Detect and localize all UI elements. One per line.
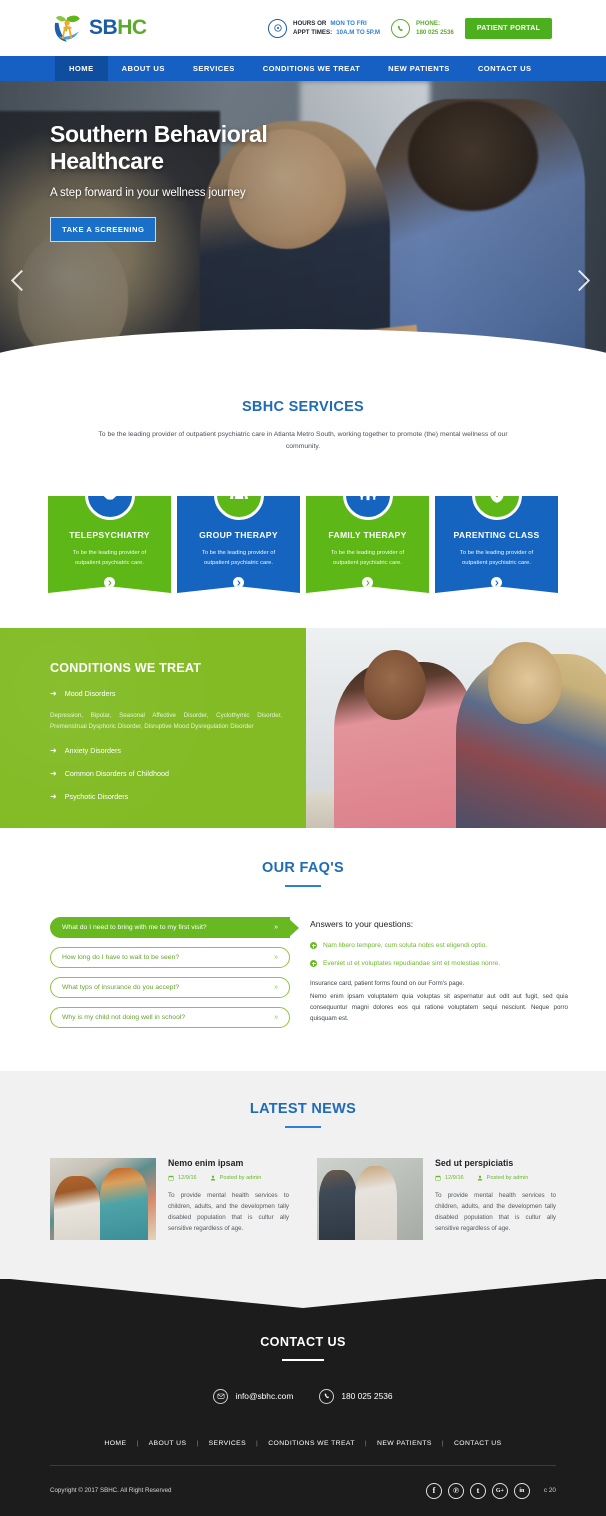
hours-value-line1: MON TO FRI <box>330 19 366 28</box>
hero-title: Southern Behavioral Healthcare <box>50 121 267 175</box>
service-card-family-therapy[interactable]: FAMILY THERAPY To be the leading provide… <box>306 496 429 593</box>
news-item[interactable]: Sed ut perspiciatis 12/9/16 Posted by ad… <box>317 1158 556 1240</box>
faq-answer-bullet: Nam libero tempore, cum soluta nobis est… <box>310 940 568 951</box>
copyright-text: Copyright © 2017 SBHC. All Right Reserve… <box>50 1487 172 1494</box>
calendar-icon <box>435 1175 441 1181</box>
news-title: LATEST NEWS <box>0 1101 606 1117</box>
news-item[interactable]: Nemo enim ipsam 12/9/16 Posted by admin … <box>50 1158 289 1240</box>
header-info-group: HOURS OR MON TO FRI APPT TIMES: 10A.M TO… <box>268 0 552 56</box>
news-author-text: Posted by admin <box>487 1175 529 1181</box>
footer-email[interactable]: info@sbhc.com <box>213 1389 293 1404</box>
condition-label: Common Disorders of Childhood <box>65 769 169 778</box>
footer-nav-separator: | <box>256 1440 258 1447</box>
footer-nav-conditions-we-treat[interactable]: CONDITIONS WE TREAT <box>268 1440 355 1447</box>
service-card-desc: To be the leading provider of outpatient… <box>58 549 161 568</box>
take-a-screening-button[interactable]: TAKE A SCREENING <box>50 217 156 242</box>
condition-item-common-disorders-of-childhood[interactable]: ➜ Common Disorders of Childhood <box>50 769 282 778</box>
conditions-photo <box>306 628 606 828</box>
nav-item-services[interactable]: SERVICES <box>179 56 249 81</box>
chevron-right-icon: » <box>274 984 278 991</box>
faq-bullet-text: Nam libero tempore, cum soluta nobis est… <box>323 940 487 951</box>
service-card-title: FAMILY THERAPY <box>316 530 419 540</box>
news-date-text: 12/9/16 <box>178 1175 197 1181</box>
services-section: SBHC SERVICES To be the leading provider… <box>0 371 606 593</box>
news-title-underline <box>285 1126 321 1128</box>
footer-nav-separator: | <box>365 1440 367 1447</box>
footer-title: CONTACT US <box>0 1335 606 1349</box>
news-author: Posted by admin <box>477 1175 529 1181</box>
hero-title-line1: Southern Behavioral <box>50 121 267 148</box>
nav-item-about-us[interactable]: ABOUT US <box>108 56 179 81</box>
footer-nav-new-patients[interactable]: NEW PATIENTS <box>377 1440 432 1447</box>
main-navigation: HOME ABOUT US SERVICES CONDITIONS WE TRE… <box>0 56 606 81</box>
footer-nav-contact-us[interactable]: CONTACT US <box>454 1440 502 1447</box>
faq-question-label: What do I need to bring with me to my fi… <box>62 924 207 931</box>
arrow-right-icon: ➜ <box>50 793 57 801</box>
site-header: SBHC HOURS OR MON TO FRI APPT TIMES: 10A… <box>0 0 606 56</box>
footer-nav-home[interactable]: HOME <box>104 1440 126 1447</box>
logo[interactable]: SBHC <box>50 11 147 45</box>
user-icon <box>210 1175 216 1181</box>
arrow-right-icon: ➜ <box>50 747 57 755</box>
footer-email-text: info@sbhc.com <box>235 1391 293 1401</box>
hours-value-line2: 10A.M TO 5P.M <box>336 28 380 37</box>
user-icon <box>477 1175 483 1181</box>
faq-question-school[interactable]: Why is my child not doing well in school… <box>50 1007 290 1028</box>
condition-label: Anxiety Disorders <box>65 746 121 755</box>
arrow-right-icon: ➜ <box>50 690 57 698</box>
condition-label: Mood Disorders <box>65 689 116 698</box>
shield-plus-icon <box>472 470 522 520</box>
news-date: 12/9/16 <box>435 1175 464 1181</box>
linkedin-icon[interactable]: in <box>514 1483 530 1499</box>
faq-answer-bullet: Eveniet ut et voluptates repudiandae sin… <box>310 958 568 969</box>
service-card-title: TELEPSYCHIATRY <box>58 530 161 540</box>
conditions-mood-description: Depression, Bipolar, Seasonal Affective … <box>50 710 282 732</box>
hours-label-line2: APPT TIMES: <box>293 28 332 37</box>
heart-in-hands-icon <box>85 470 135 520</box>
service-card-title: PARENTING CLASS <box>445 530 548 540</box>
hero-title-line2: Healthcare <box>50 148 267 175</box>
faq-answer-paragraph-1: Insurance card, patient forms found on o… <box>310 978 568 989</box>
conditions-title: CONDITIONS WE TREAT <box>50 661 282 675</box>
plus-circle-icon <box>310 942 317 949</box>
corner-text: c 20 <box>544 1487 556 1494</box>
footer-nav-separator: | <box>442 1440 444 1447</box>
faq-question-list: What do I need to bring with me to my fi… <box>50 917 290 1037</box>
faq-bullet-text: Eveniet ut et voluptates repudiandae sin… <box>323 958 500 969</box>
news-thumbnail <box>50 1158 156 1240</box>
twitter-icon[interactable]: t <box>470 1483 486 1499</box>
clock-icon <box>268 19 287 38</box>
footer-nav-services[interactable]: SERVICES <box>209 1440 246 1447</box>
chevron-down-icon: » <box>274 924 278 931</box>
google-plus-icon[interactable]: G+ <box>492 1483 508 1499</box>
services-description: To be the leading provider of outpatient… <box>93 429 513 453</box>
family-icon <box>343 470 393 520</box>
phone-number: 180 025 2536 <box>416 28 454 37</box>
faq-answer-title: Answers to your questions: <box>310 919 568 929</box>
conditions-content: CONDITIONS WE TREAT ➜ Mood Disorders Dep… <box>0 628 306 828</box>
news-item-title[interactable]: Sed ut perspiciatis <box>435 1158 556 1168</box>
chevron-right-icon[interactable] <box>572 273 596 309</box>
facebook-icon[interactable]: f <box>426 1483 442 1499</box>
service-cards: TELEPSYCHIATRY To be the leading provide… <box>48 496 558 593</box>
service-card-arrow-icon[interactable] <box>233 577 244 588</box>
service-card-desc: To be the leading provider of outpatient… <box>445 549 548 568</box>
services-title: SBHC SERVICES <box>0 399 606 415</box>
footer-nav-about-us[interactable]: ABOUT US <box>149 1440 187 1447</box>
pinterest-icon[interactable]: ℗ <box>448 1483 464 1499</box>
faq-answer-paragraph-2: Nemo enim ipsam voluptatem quia voluptas… <box>310 991 568 1024</box>
logo-text: SBHC <box>89 16 147 40</box>
latest-news-section: LATEST NEWS Nemo enim ipsam 12/9/16 Post… <box>0 1071 606 1280</box>
site-footer: CONTACT US info@sbhc.com 180 025 2536 HO… <box>0 1279 606 1516</box>
leaf-person-logo-icon <box>50 11 84 45</box>
nav-item-new-patients[interactable]: NEW PATIENTS <box>374 56 464 81</box>
faq-section: OUR FAQ'S What do I need to bring with m… <box>0 828 606 1037</box>
faq-question-wait-time[interactable]: How long do I have to wait to be seen? » <box>50 947 290 968</box>
service-card-desc: To be the leading provider of outpatient… <box>187 549 290 568</box>
chevron-left-icon[interactable] <box>10 273 34 309</box>
condition-item-anxiety-disorders[interactable]: ➜ Anxiety Disorders <box>50 746 282 755</box>
service-card-parenting-class[interactable]: PARENTING CLASS To be the leading provid… <box>435 496 558 593</box>
arrow-right-icon: ➜ <box>50 770 57 778</box>
faq-title: OUR FAQ'S <box>0 860 606 876</box>
mail-icon <box>213 1389 228 1404</box>
calendar-icon <box>168 1175 174 1181</box>
faq-question-label: What typs of insurance do you accept? <box>62 984 179 991</box>
footer-nav-separator: | <box>196 1440 198 1447</box>
plus-circle-icon <box>310 960 317 967</box>
news-author-text: Posted by admin <box>220 1175 262 1181</box>
faq-question-label: Why is my child not doing well in school… <box>62 1014 185 1021</box>
chevron-right-icon: » <box>274 954 278 961</box>
social-links: f ℗ t G+ in c 20 <box>426 1483 556 1499</box>
hero-subtitle: A step forward in your wellness journey <box>50 187 267 199</box>
service-card-title: GROUP THERAPY <box>187 530 290 540</box>
condition-item-mood-disorders[interactable]: ➜ Mood Disorders <box>50 689 282 698</box>
faq-answer-panel: Answers to your questions: Nam libero te… <box>310 917 568 1037</box>
news-thumbnail <box>317 1158 423 1240</box>
news-date-text: 12/9/16 <box>445 1175 464 1181</box>
footer-navigation: HOME | ABOUT US | SERVICES | CONDITIONS … <box>0 1440 606 1447</box>
condition-item-psychotic-disorders[interactable]: ➜ Psychotic Disorders <box>50 792 282 801</box>
nav-item-contact-us[interactable]: CONTACT US <box>464 56 546 81</box>
hours-label-line1: HOURS OR <box>293 19 326 28</box>
footer-phone-text: 180 025 2536 <box>341 1391 392 1401</box>
condition-label: Psychotic Disorders <box>65 792 129 801</box>
faq-title-underline <box>285 885 321 887</box>
service-card-group-therapy[interactable]: GROUP THERAPY To be the leading provider… <box>177 496 300 593</box>
service-card-arrow-icon[interactable] <box>491 577 502 588</box>
service-card-arrow-icon[interactable] <box>104 577 115 588</box>
news-excerpt: To provide mental health services to chi… <box>435 1190 556 1234</box>
faq-question-first-visit[interactable]: What do I need to bring with me to my fi… <box>50 917 290 938</box>
service-card-arrow-icon[interactable] <box>362 577 373 588</box>
phone-icon <box>319 1389 334 1404</box>
footer-phone[interactable]: 180 025 2536 <box>319 1389 392 1404</box>
phone-info[interactable]: PHONE: 180 025 2536 <box>391 19 454 38</box>
hero-content: Southern Behavioral Healthcare A step fo… <box>50 121 267 242</box>
footer-title-underline <box>282 1359 324 1361</box>
nav-item-conditions-we-treat[interactable]: CONDITIONS WE TREAT <box>249 56 374 81</box>
chevron-right-icon: » <box>274 1014 278 1021</box>
patient-portal-button[interactable]: PATIENT PORTAL <box>465 18 552 39</box>
phone-icon <box>391 19 410 38</box>
news-excerpt: To provide mental health services to chi… <box>168 1190 289 1234</box>
faq-question-insurance[interactable]: What typs of insurance do you accept? » <box>50 977 290 998</box>
logo-text-primary: SB <box>89 16 117 39</box>
news-date: 12/9/16 <box>168 1175 197 1181</box>
logo-text-secondary: HC <box>117 16 146 39</box>
hours-info: HOURS OR MON TO FRI APPT TIMES: 10A.M TO… <box>268 19 380 38</box>
hero-carousel: Southern Behavioral Healthcare A step fo… <box>0 81 606 371</box>
service-card-telepsychiatry[interactable]: TELEPSYCHIATRY To be the leading provide… <box>48 496 171 593</box>
footer-notch <box>0 1278 606 1308</box>
phone-label: PHONE: <box>416 19 454 28</box>
faq-question-label: How long do I have to wait to be seen? <box>62 954 179 961</box>
news-author: Posted by admin <box>210 1175 262 1181</box>
conditions-section: CONDITIONS WE TREAT ➜ Mood Disorders Dep… <box>0 628 606 828</box>
service-card-desc: To be the leading provider of outpatient… <box>316 549 419 568</box>
footer-nav-separator: | <box>136 1440 138 1447</box>
group-people-icon <box>214 470 264 520</box>
nav-item-home[interactable]: HOME <box>55 56 108 81</box>
news-item-title[interactable]: Nemo enim ipsam <box>168 1158 289 1168</box>
